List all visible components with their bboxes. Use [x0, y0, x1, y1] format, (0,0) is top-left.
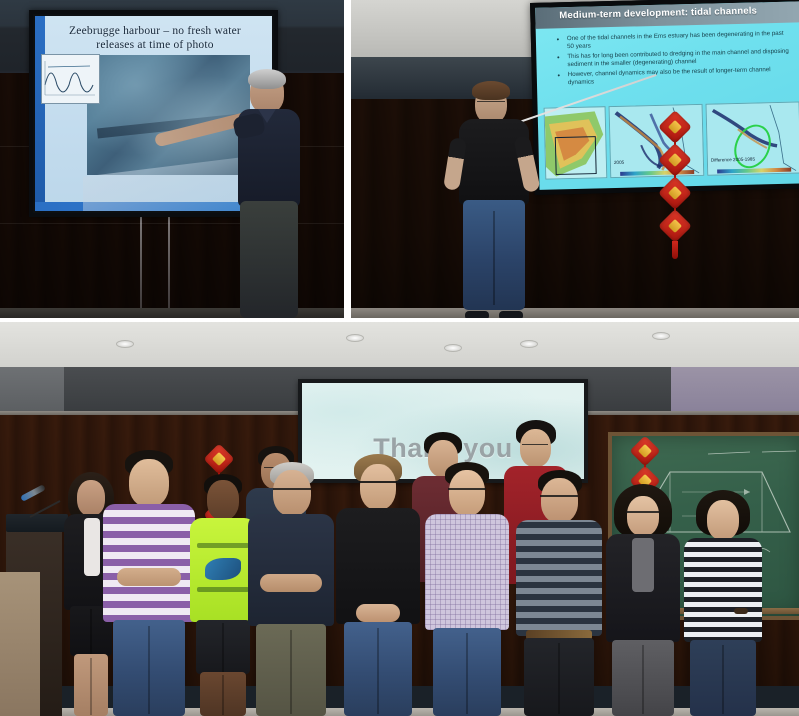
glasses-icon — [359, 481, 397, 489]
person-woman-glasses-dark-jacket — [606, 484, 680, 716]
inner-top — [632, 538, 654, 592]
gray-trousers — [612, 640, 674, 716]
photo-lecture-right: Medium-term development: tidal channels … — [351, 0, 799, 318]
glasses-icon — [522, 444, 548, 450]
slide-bullet-list: One of the tidal channels in the Ems est… — [558, 30, 791, 89]
head — [207, 480, 239, 520]
head — [77, 480, 105, 516]
glasses-icon — [273, 488, 311, 496]
chinese-knot-ornament — [663, 115, 687, 245]
ornament-knot — [658, 176, 692, 210]
presenter-legs — [240, 201, 298, 318]
person-man-purple-stripe-polo — [103, 450, 195, 716]
head — [129, 459, 169, 507]
wall-band-left — [0, 367, 64, 410]
bracelet — [734, 608, 748, 614]
torso-purple-stripe-polo — [103, 504, 195, 622]
person-man-lilac-check-shirt — [425, 462, 509, 716]
map-difference: Difference 2005-1985 — [706, 101, 799, 175]
glasses-icon — [626, 511, 660, 519]
door-edge-line — [140, 210, 142, 318]
ornament-knot — [658, 209, 692, 243]
jeans — [433, 628, 501, 716]
glasses-icon — [477, 101, 505, 108]
person-man-navy-polo-glasses — [248, 462, 334, 716]
ornament-knot — [658, 110, 692, 144]
presenter-shoe — [499, 311, 523, 318]
map-label: 2005 — [614, 160, 624, 165]
photo-group: Thank you — [0, 322, 799, 716]
slide-title-line1: Zeebrugge harbour – no fresh water — [57, 24, 253, 38]
glasses-icon — [448, 488, 486, 496]
presenter-gray-hair-navy-polo — [214, 73, 326, 318]
presenter-hair — [248, 69, 286, 89]
folded-arms — [117, 568, 181, 586]
floor-strip-right — [351, 308, 799, 318]
ceiling-light-icon — [444, 344, 462, 352]
presenter-shoe — [465, 311, 489, 318]
ceiling-light-icon — [520, 340, 538, 348]
tee-text-line — [197, 543, 250, 548]
podium-top — [6, 514, 68, 532]
head — [707, 500, 739, 540]
slide-title-right: Medium-term development: tidal channels — [559, 5, 757, 21]
inner-top — [84, 518, 100, 576]
wall-panel-right — [671, 367, 799, 410]
torso-navy-polo — [248, 514, 334, 626]
torso-striped-tee — [684, 538, 762, 642]
shorts — [196, 620, 250, 674]
khaki-trousers — [256, 624, 326, 716]
slide-title-left: Zeebrugge harbour – no fresh water relea… — [57, 24, 253, 52]
slide-title-line2: releases at time of photo — [57, 38, 253, 52]
folded-arms — [260, 574, 322, 592]
map-overview — [544, 106, 608, 179]
person-man-gray-stripe-polo — [516, 470, 602, 716]
ornament-knot — [658, 143, 692, 177]
jeans — [113, 620, 185, 716]
ornament-knot — [629, 435, 660, 466]
person-woman-striped-tee — [684, 490, 762, 716]
jeans — [690, 640, 756, 716]
clasped-hands — [356, 604, 400, 622]
tee-text-line — [197, 587, 250, 592]
ceiling-light-icon — [346, 334, 364, 342]
map-2005: 2005 — [609, 104, 705, 178]
jeans — [344, 622, 412, 716]
ceiling-light-icon — [116, 340, 134, 348]
legs — [200, 672, 246, 716]
person-man-neon-tee — [190, 474, 256, 716]
map-label: Difference 2005-1985 — [711, 157, 755, 163]
person-man-black-shirt — [336, 454, 420, 716]
ornament-knot — [203, 443, 234, 474]
tidal-curve-inset — [41, 54, 100, 104]
presenter-jeans — [463, 200, 525, 310]
cardboard-box — [0, 572, 40, 716]
presenter-hair — [472, 81, 510, 100]
slide-title-bar: Medium-term development: tidal channels — [535, 1, 799, 29]
presenter-glasses-black-polo — [441, 86, 551, 318]
photo-lecture-left: Zeebrugge harbour – no fresh water relea… — [0, 0, 344, 318]
ceiling-light-icon — [652, 332, 670, 340]
photo-collage: Zeebrugge harbour – no fresh water relea… — [0, 0, 799, 716]
ornament-tassel — [672, 241, 678, 259]
door-edge-line — [168, 210, 170, 318]
dark-trousers — [524, 638, 594, 716]
torso-neon-fishing-tee — [190, 518, 256, 622]
glasses-icon — [540, 495, 578, 503]
torso-lilac-check-shirt — [425, 514, 509, 630]
torso-gray-stripe-polo — [516, 520, 602, 636]
fish-graphic-icon — [205, 558, 242, 581]
slide-accent-bar — [35, 16, 45, 211]
